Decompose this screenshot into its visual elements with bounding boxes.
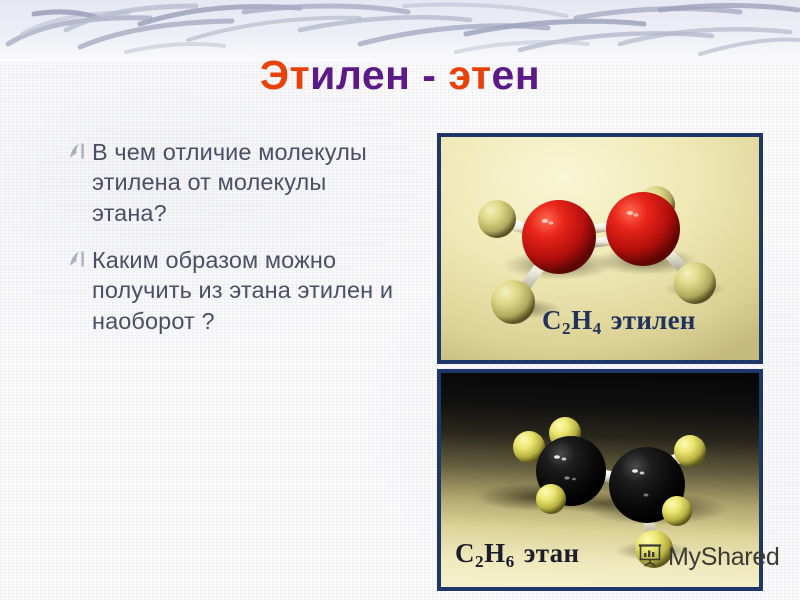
watermark-label: MyShared: [668, 543, 780, 572]
flag-bullet-icon: [68, 142, 85, 166]
formula-carbon-count: 2: [562, 319, 572, 338]
list-item: Каким образом можно получить из этана эт…: [68, 245, 403, 336]
caption-ethane: C2H6этан: [455, 538, 579, 569]
page-title: Этилен - этен: [0, 52, 800, 99]
title-segment-1: илен: [310, 52, 410, 98]
bullet-list: В чем отличие молекулы этилена от молеку…: [68, 137, 403, 353]
myshared-watermark: MyShared: [637, 541, 780, 574]
title-segment-0: Эт: [260, 52, 310, 98]
formula-carbon-count: 2: [475, 552, 485, 571]
title-segment-4: ен: [492, 52, 541, 98]
list-item-label: В чем отличие молекулы этилена от молеку…: [92, 137, 403, 228]
formula-hydrogen-count: 4: [592, 319, 602, 338]
slide: Этилен - этен В чем отличие молекулы эти…: [0, 0, 800, 600]
list-item: В чем отличие молекулы этилена от молеку…: [68, 137, 403, 228]
caption-word-ethane: этан: [515, 538, 580, 568]
presentation-board-icon: [637, 541, 663, 574]
formula-hydrogen-symbol: H: [484, 538, 505, 568]
formula-carbon-symbol: C: [455, 538, 475, 568]
title-segment-2: -: [410, 52, 448, 98]
list-item-label: Каким образом можно получить из этана эт…: [92, 245, 403, 336]
formula-carbon-symbol: C: [542, 305, 562, 335]
caption-word-ethylene: этилен: [602, 305, 696, 335]
caption-ethylene: C2H4этилен: [542, 305, 696, 336]
title-segment-3: эт: [448, 52, 491, 98]
flag-bullet-icon: [68, 250, 85, 274]
formula-hydrogen-count: 6: [505, 552, 515, 571]
formula-hydrogen-symbol: H: [571, 305, 592, 335]
